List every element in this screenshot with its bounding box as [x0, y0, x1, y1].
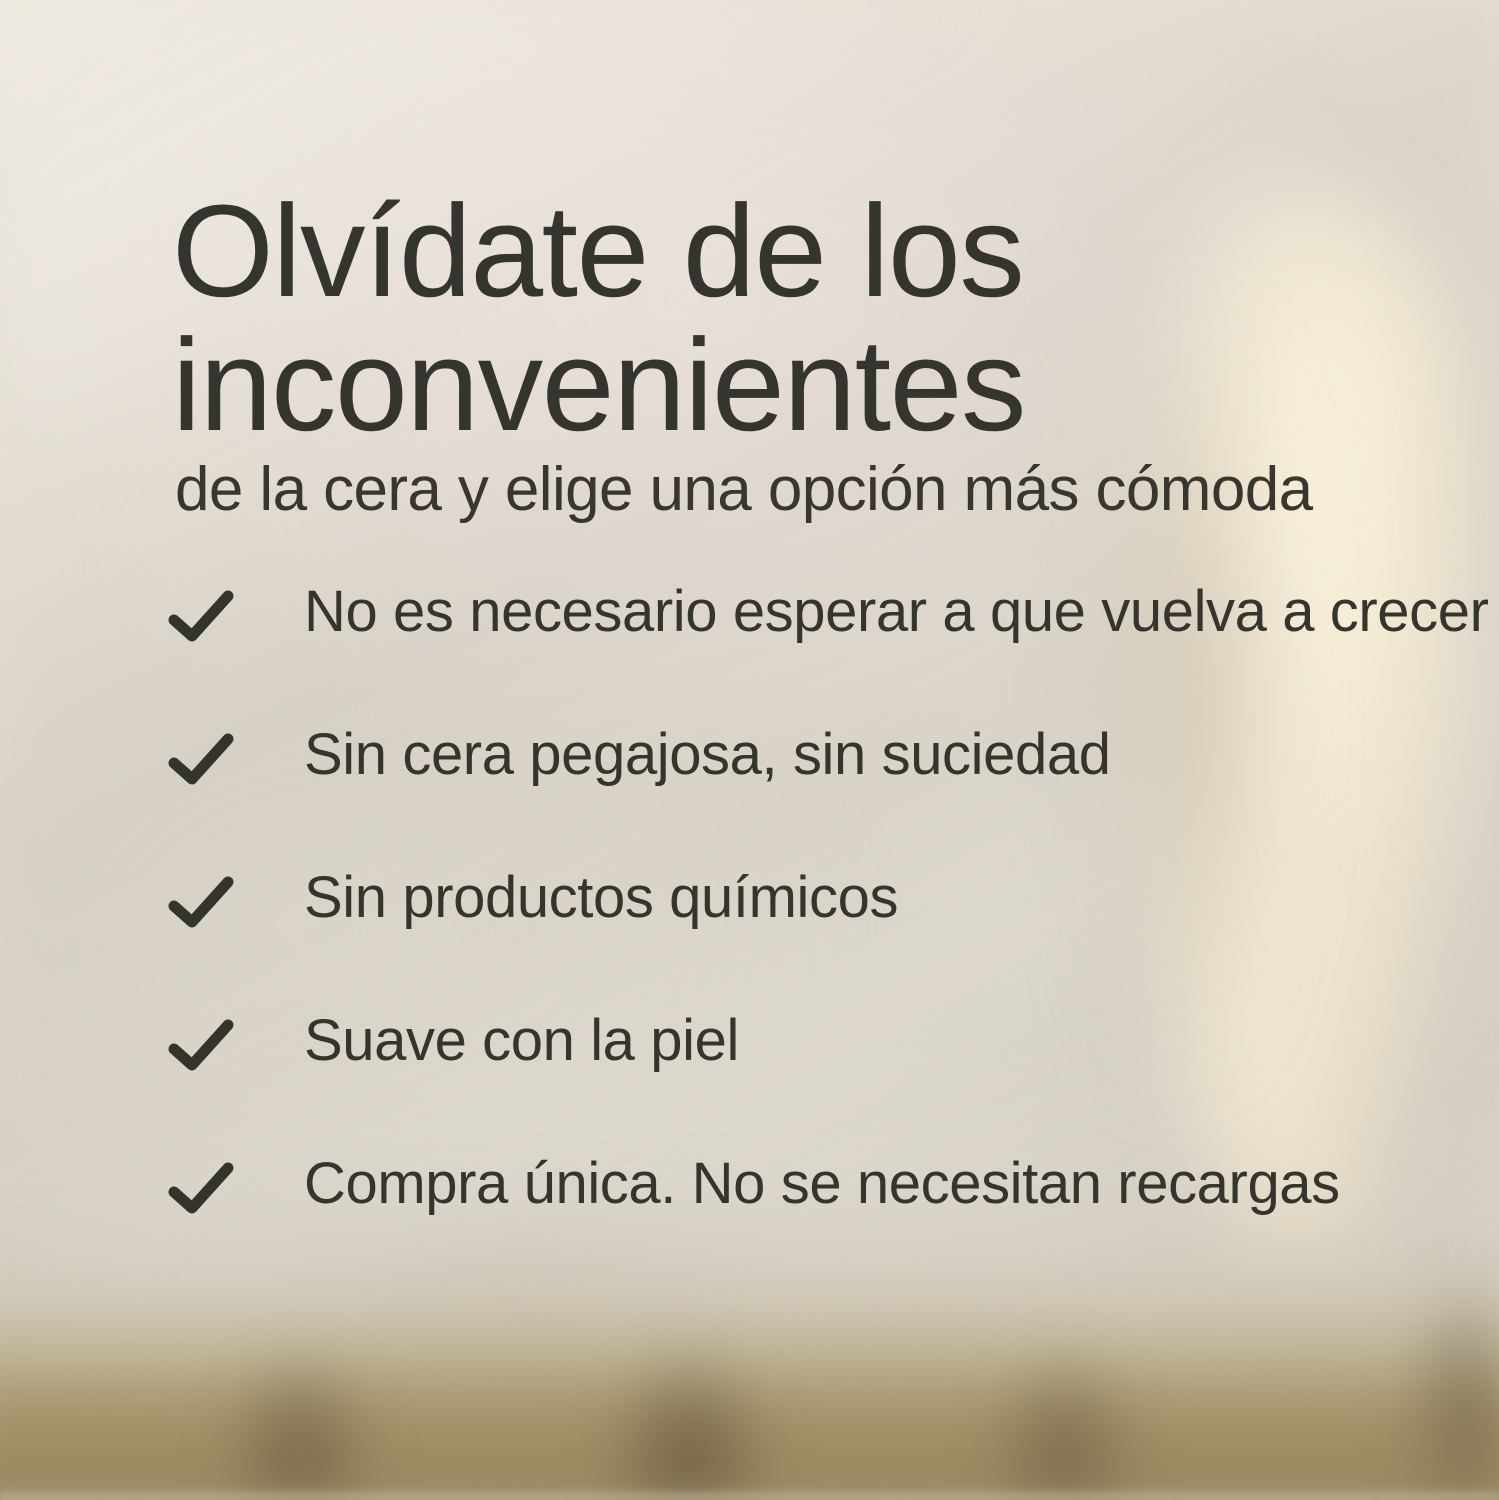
product-benefits-poster: Olvídate de los inconvenientes de la cer…	[0, 0, 1499, 1500]
benefit-label: Suave con la piel	[304, 1006, 739, 1076]
page-title: Olvídate de los inconvenientes	[172, 184, 1172, 452]
check-icon	[168, 870, 234, 936]
check-icon	[168, 727, 234, 793]
check-icon	[168, 1156, 234, 1222]
page-subtitle: de la cera y elige una opción más cómoda	[175, 454, 1312, 526]
benefit-item-1: No es necesario esperar a que vuelva a c…	[168, 570, 1448, 713]
benefit-label: Sin cera pegajosa, sin suciedad	[304, 720, 1111, 790]
benefit-item-4: Suave con la piel	[168, 999, 1448, 1142]
benefits-list: No es necesario esperar a que vuelva a c…	[168, 570, 1448, 1285]
benefit-label: No es necesario esperar a que vuelva a c…	[304, 577, 1489, 647]
poster-content: Olvídate de los inconvenientes de la cer…	[0, 0, 1499, 1500]
benefit-item-2: Sin cera pegajosa, sin suciedad	[168, 713, 1448, 856]
benefit-label: Compra única. No se necesitan recargas	[304, 1149, 1340, 1219]
benefit-item-3: Sin productos químicos	[168, 856, 1448, 999]
benefit-label: Sin productos químicos	[304, 863, 898, 933]
check-icon	[168, 1013, 234, 1079]
check-icon	[168, 584, 234, 650]
benefit-item-5: Compra única. No se necesitan recargas	[168, 1142, 1448, 1285]
